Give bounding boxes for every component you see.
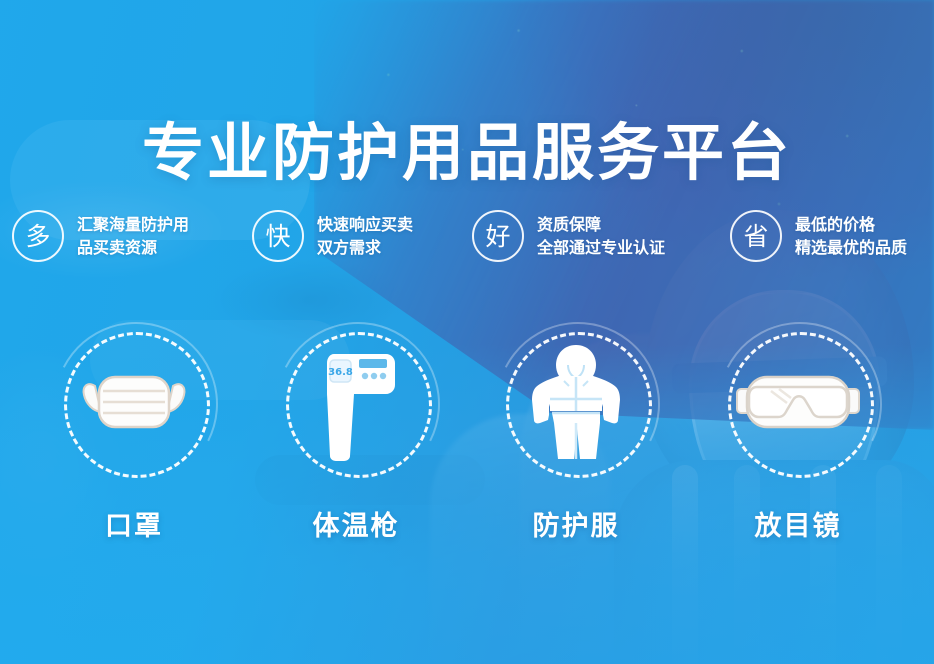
banner-title: 专业防护用品服务平台 <box>0 120 934 185</box>
feature-item-hao: 好 资质保障 全部通过专业认证 <box>472 210 665 262</box>
feature-text: 汇聚海量防护用 品买卖资源 <box>77 213 189 259</box>
product-category-goggles[interactable]: 放目镜 <box>688 322 908 543</box>
feature-list: 多 汇聚海量防护用 品买卖资源 快 快速响应买卖 双方需求 好 资质保障 全部通… <box>0 210 934 272</box>
product-icon-ring <box>496 322 656 482</box>
feature-line-1: 快速响应买卖 <box>317 213 413 236</box>
feature-item-sheng: 省 最低的价格 精选最优的品质 <box>730 210 907 262</box>
product-icon-ring <box>54 322 214 482</box>
product-label: 防护服 <box>466 504 686 543</box>
product-category-thermometer[interactable]: 36.8 体温枪 <box>246 322 466 543</box>
product-category-suit[interactable]: 防护服 <box>466 322 686 543</box>
product-category-list: 口罩 36.8 <box>0 322 934 552</box>
feature-item-duo: 多 汇聚海量防护用 品买卖资源 <box>12 210 189 262</box>
feature-item-kuai: 快 快速响应买卖 双方需求 <box>252 210 413 262</box>
product-label: 放目镜 <box>688 504 908 543</box>
feature-line-2: 全部通过专业认证 <box>537 236 665 259</box>
promo-banner: 专业防护用品服务平台 多 汇聚海量防护用 品买卖资源 快 快速响应买卖 双方需求… <box>0 0 934 664</box>
goggles-icon <box>718 322 878 482</box>
feature-line-1: 资质保障 <box>537 213 665 236</box>
feature-badge-icon: 快 <box>252 210 304 262</box>
feature-badge-icon: 省 <box>730 210 782 262</box>
thermometer-reading: 36.8 <box>328 367 353 378</box>
product-label: 体温枪 <box>246 504 466 543</box>
feature-badge-icon: 多 <box>12 210 64 262</box>
product-icon-ring <box>718 322 878 482</box>
feature-line-2: 品买卖资源 <box>77 236 189 259</box>
product-icon-ring: 36.8 <box>276 322 436 482</box>
face-mask-icon <box>54 322 214 482</box>
feature-text: 快速响应买卖 双方需求 <box>317 213 413 259</box>
feature-line-2: 双方需求 <box>317 236 413 259</box>
feature-line-1: 最低的价格 <box>795 213 907 236</box>
feature-text: 资质保障 全部通过专业认证 <box>537 213 665 259</box>
feature-badge-icon: 好 <box>472 210 524 262</box>
feature-text: 最低的价格 精选最优的品质 <box>795 213 907 259</box>
thermometer-gun-icon: 36.8 <box>276 322 436 482</box>
protective-suit-icon <box>496 322 656 482</box>
feature-line-1: 汇聚海量防护用 <box>77 213 189 236</box>
feature-line-2: 精选最优的品质 <box>795 236 907 259</box>
product-label: 口罩 <box>24 504 244 543</box>
banner-content: 专业防护用品服务平台 多 汇聚海量防护用 品买卖资源 快 快速响应买卖 双方需求… <box>0 0 934 664</box>
product-category-mask[interactable]: 口罩 <box>24 322 244 543</box>
